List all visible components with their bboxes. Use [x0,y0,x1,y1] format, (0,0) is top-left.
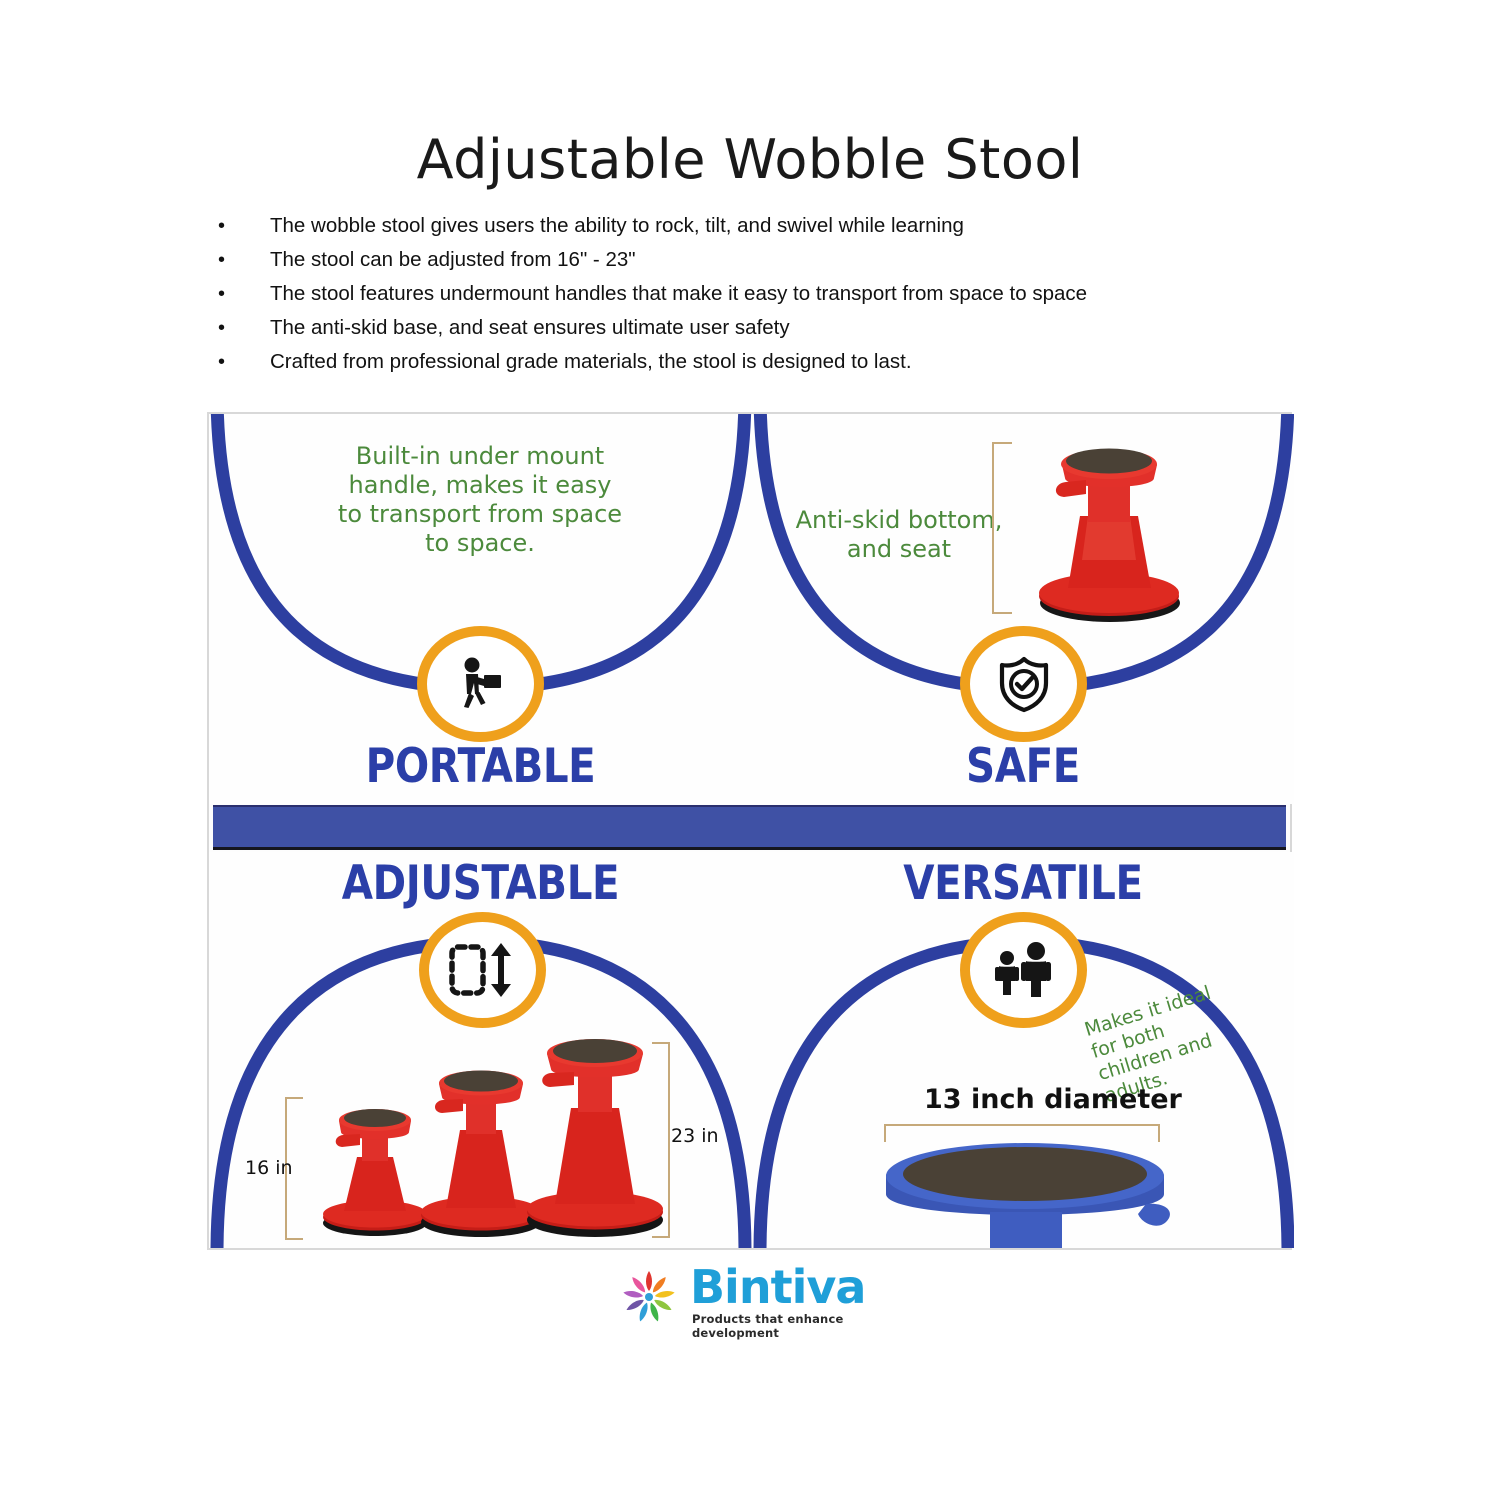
list-item: • The stool can be adjusted from 16" - 2… [218,248,1338,273]
list-item: • The anti-skid base, and seat ensures u… [218,316,1338,341]
quadrant-portable: Built-in under mount handle, makes it ea… [209,414,752,804]
walking-person-with-box-icon [450,653,512,715]
blue-stool-seat-image [870,1132,1180,1248]
list-item: • The stool features undermount handles … [218,282,1338,307]
bullet-text: Crafted from professional grade material… [270,350,1338,375]
logo-tagline: Products that enhance development [692,1312,888,1340]
versatile-heading: VERSATILE [790,856,1256,911]
bullet-text: The wobble stool gives users the ability… [270,214,1338,239]
resize-height-icon [448,941,518,999]
bullet-text: The anti-skid base, and seat ensures ult… [270,316,1338,341]
section-divider-bar [213,805,1286,850]
page-title: Adjustable Wobble Stool [0,128,1500,191]
safe-bracket [992,442,1012,614]
bullet-marker-icon: • [218,316,270,341]
quadrant-adjustable: ADJUSTABLE 16 in 23 in [209,852,752,1248]
diameter-bracket [884,1124,1160,1142]
portable-badge [417,626,544,742]
quadrant-versatile: VERSATILE Makes it ideal for [752,852,1294,1248]
brand-logo: Bintiva Products that enhance developmen… [618,1262,888,1334]
safe-heading: SAFE [790,739,1256,794]
bullet-marker-icon: • [218,214,270,239]
product-infographic-page: Adjustable Wobble Stool • The wobble sto… [0,0,1500,1500]
bullet-text: The stool features undermount handles th… [270,282,1338,307]
feature-bullet-list: • The wobble stool gives users the abili… [218,214,1338,384]
bullet-marker-icon: • [218,282,270,307]
height-bracket-23in [652,1042,670,1238]
diameter-label: 13 inch diameter [924,1084,1182,1115]
list-item: • The wobble stool gives users the abili… [218,214,1338,239]
versatile-badge [960,912,1087,1028]
red-stool-image [1002,420,1217,625]
safe-note: Anti-skid bottom, and seat [784,506,1014,564]
adjustable-badge [419,912,546,1028]
quadrant-safe: Anti-skid bottom, and seat [752,414,1294,804]
list-item: • Crafted from professional grade materi… [218,350,1338,375]
logo-wordmark: Bintiva [690,1262,865,1312]
adjustable-heading: ADJUSTABLE [247,856,714,911]
measurement-label-23in: 23 in [671,1125,719,1147]
shield-check-icon [993,653,1055,715]
portable-note: Built-in under mount handle, makes it ea… [335,442,625,558]
pinwheel-petals-icon [618,1266,680,1328]
safe-badge [960,626,1087,742]
bullet-marker-icon: • [218,350,270,375]
bullet-marker-icon: • [218,248,270,273]
infographic-panel: Built-in under mount handle, makes it ea… [207,412,1292,1250]
portable-heading: PORTABLE [247,739,714,794]
adult-and-child-icon [989,940,1059,1000]
measurement-label-16in: 16 in [245,1157,293,1179]
bullet-text: The stool can be adjusted from 16" - 23" [270,248,1338,273]
